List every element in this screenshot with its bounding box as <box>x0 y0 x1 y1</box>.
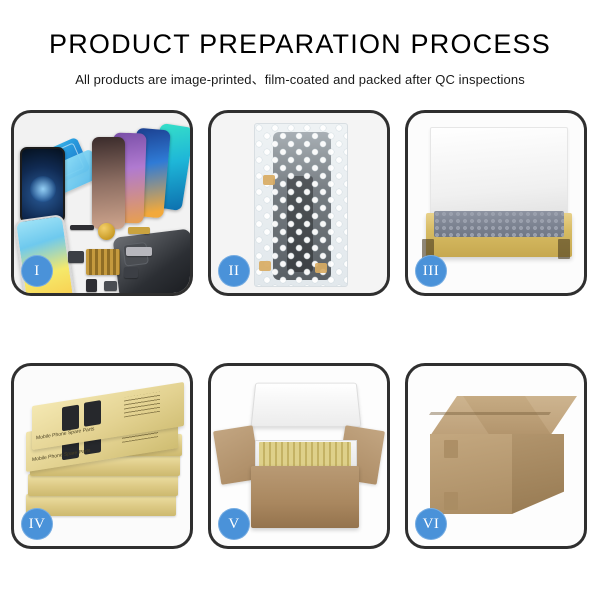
page-title: PRODUCT PREPARATION PROCESS <box>0 30 600 60</box>
stacked-box-icon <box>28 474 178 496</box>
step-panel-5: V <box>208 363 390 549</box>
product-photo-swatch <box>62 405 79 432</box>
carton-front-face <box>430 434 512 514</box>
step-panel-3: III <box>405 110 587 296</box>
steps-grid: I II III <box>11 110 589 549</box>
speaker-module-icon <box>124 267 138 278</box>
step-badge-6: VI <box>415 508 447 540</box>
packed-boxes-icon <box>259 442 351 468</box>
step-panel-1: I <box>11 110 193 296</box>
chip-array-icon <box>86 249 120 275</box>
tape-piece-icon <box>263 175 275 185</box>
phone-fan-group <box>78 123 190 227</box>
box-flap-right-icon <box>558 239 570 259</box>
camera-module-icon <box>68 251 84 263</box>
spare-parts-group <box>66 221 186 296</box>
flex-cable-icon <box>128 227 150 234</box>
step-badge-3: III <box>415 255 447 287</box>
sim-tray-icon <box>104 281 117 291</box>
carton-tape-icon <box>444 440 458 458</box>
carton-body-icon <box>251 466 359 528</box>
product-preparation-infographic: PRODUCT PREPARATION PROCESS All products… <box>0 0 600 600</box>
carton-side-face <box>512 434 564 514</box>
tape-piece-icon <box>315 263 327 273</box>
step-badge-4: IV <box>21 508 53 540</box>
step-badge-5: V <box>218 508 250 540</box>
page-subtitle: All products are image-printed、film-coat… <box>0 69 600 88</box>
step-badge-2: II <box>218 255 250 287</box>
antenna-strip-icon <box>70 225 94 230</box>
product-photo-swatch <box>84 400 101 427</box>
box-lid-white-icon <box>430 127 568 215</box>
copper-coil-icon <box>98 223 115 240</box>
phone-dark-icon <box>92 137 125 229</box>
button-part-icon <box>86 279 97 292</box>
foam-insert-icon <box>434 211 564 237</box>
header: PRODUCT PREPARATION PROCESS All products… <box>0 0 600 88</box>
foam-lid-icon <box>251 383 362 428</box>
step-badge-1: I <box>21 255 53 287</box>
step-panel-2: II <box>208 110 390 296</box>
connector-strip-icon <box>126 247 152 256</box>
tape-piece-icon <box>259 261 271 271</box>
step-panel-4: Mobile Phone Spare Parts Mobile Phone Sp… <box>11 363 193 549</box>
carton-tape-icon <box>444 492 458 510</box>
step-panel-6: VI <box>405 363 587 549</box>
carton-seam <box>429 412 551 415</box>
label-text-lines <box>124 392 160 418</box>
tempered-glass-screen-icon <box>20 147 65 223</box>
